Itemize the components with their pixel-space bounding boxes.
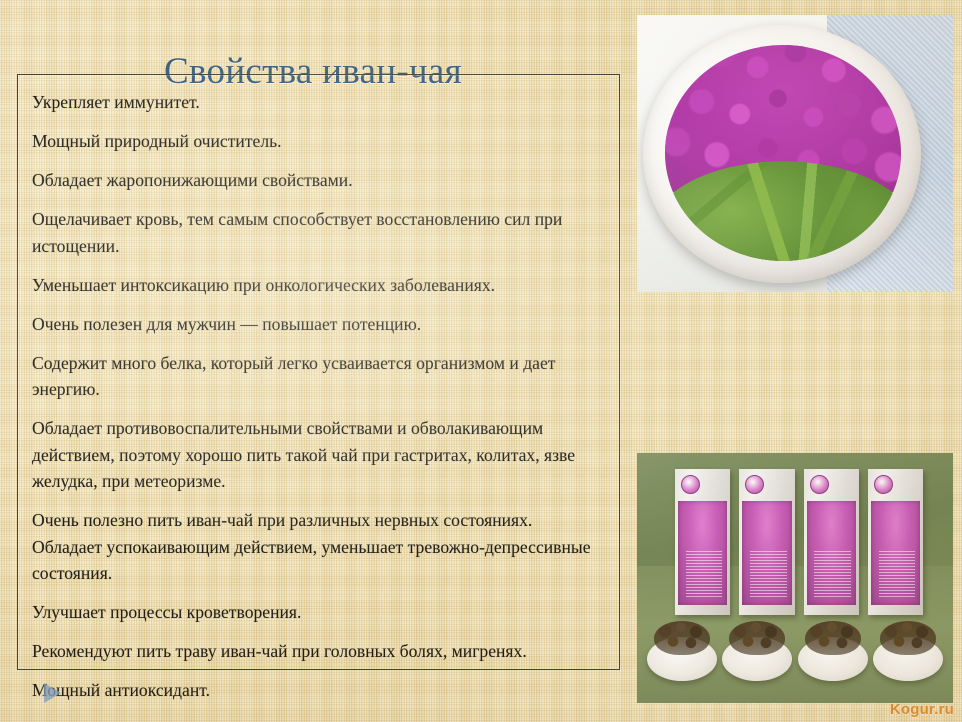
list-item: Очень полезен для мужчин — повышает поте… <box>32 311 606 338</box>
tea-package <box>804 469 859 615</box>
package-label <box>871 501 920 605</box>
dried-tea-leaves <box>729 621 785 655</box>
tea-saucer-row <box>647 615 943 681</box>
package-seal-icon <box>874 475 893 494</box>
list-item: Рекомендуют пить траву иван-чай при голо… <box>32 638 606 665</box>
list-item: Мощный природный очиститель. <box>32 128 606 155</box>
package-label <box>807 501 856 605</box>
list-item: Обладает противовоспалительными свойства… <box>32 415 606 495</box>
list-item: Ощелачивает кровь, тем самым способствуе… <box>32 206 606 259</box>
play-triangle-icon[interactable] <box>44 683 61 703</box>
tea-saucer <box>647 637 717 681</box>
tea-package <box>868 469 923 615</box>
package-seal-icon <box>810 475 829 494</box>
tea-saucer <box>873 637 943 681</box>
list-item: Содержит много белка, который легко усва… <box>32 350 606 403</box>
photo-bowl-of-fireweed-flowers <box>637 15 953 292</box>
list-item: Обладает жаропонижающими свойствами. <box>32 167 606 194</box>
list-item: Мощный антиоксидант. <box>32 677 606 704</box>
tea-package <box>739 469 794 615</box>
tea-package-row <box>675 469 923 615</box>
bowl-contents <box>665 45 901 261</box>
watermark: Kogur.ru <box>890 701 954 718</box>
benefits-panel: Укрепляет иммунитет. Мощный природный оч… <box>17 74 620 670</box>
presentation-slide: Свойства иван-чая Укрепляет иммунитет. М… <box>0 0 962 722</box>
tea-saucer <box>798 637 868 681</box>
benefits-list: Укрепляет иммунитет. Мощный природный оч… <box>32 89 606 704</box>
list-item: Укрепляет иммунитет. <box>32 89 606 116</box>
list-item: Очень полезно пить иван-чай при различны… <box>32 507 606 587</box>
package-label <box>678 501 727 605</box>
photo-ivan-chay-tea-packages <box>637 453 953 703</box>
tea-package <box>675 469 730 615</box>
package-seal-icon <box>745 475 764 494</box>
list-item: Улучшает процессы кроветворения. <box>32 599 606 626</box>
tea-saucer <box>722 637 792 681</box>
list-item: Уменьшает интоксикацию при онкологически… <box>32 272 606 299</box>
package-label <box>742 501 791 605</box>
white-bowl <box>643 25 921 283</box>
dried-tea-leaves <box>880 621 936 655</box>
dried-tea-leaves <box>805 621 861 655</box>
package-seal-icon <box>681 475 700 494</box>
dried-tea-leaves <box>654 621 710 655</box>
